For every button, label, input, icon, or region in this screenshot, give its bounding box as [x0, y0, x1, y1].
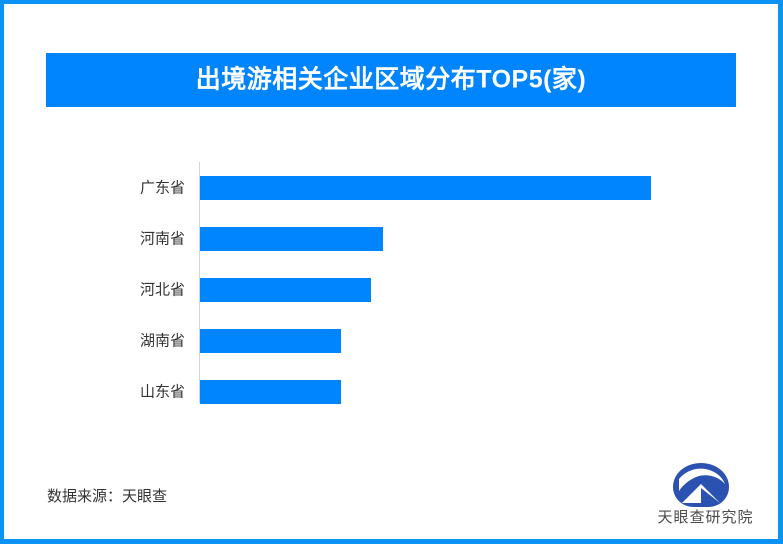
bar-fill[interactable] — [200, 380, 341, 404]
bar-category-label: 广东省 — [60, 181, 185, 196]
bar-track — [200, 329, 700, 353]
infographic-canvas: 出境游相关企业区域分布TOP5(家) 广东省河南省河北省湖南省山东省 数据来源：… — [0, 0, 783, 544]
bar-row: 湖南省 — [0, 329, 783, 353]
bar-category-label: 湖南省 — [60, 334, 185, 349]
page-title: 出境游相关企业区域分布TOP5(家) — [46, 68, 736, 93]
bar-fill[interactable] — [200, 278, 371, 302]
bar-row: 河南省 — [0, 227, 783, 251]
bar-track — [200, 227, 700, 251]
data-source-note: 数据来源：天眼查 — [47, 489, 167, 504]
bar-track — [200, 176, 700, 200]
bar-row: 河北省 — [0, 278, 783, 302]
brand-logo: 天眼查研究院 — [648, 462, 763, 530]
bar-track — [200, 278, 700, 302]
bar-track — [200, 380, 700, 404]
bar-fill[interactable] — [200, 227, 383, 251]
bar-category-label: 河北省 — [60, 283, 185, 298]
brand-name-label: 天眼查研究院 — [648, 510, 763, 525]
bar-category-label: 山东省 — [60, 385, 185, 400]
canvas-border-top — [0, 0, 783, 4]
bar-chart: 广东省河南省河北省湖南省山东省 — [0, 150, 783, 415]
bar-row: 广东省 — [0, 176, 783, 200]
bar-row: 山东省 — [0, 380, 783, 404]
bar-category-label: 河南省 — [60, 232, 185, 247]
tianyancha-eye-logo-icon — [670, 462, 732, 508]
bar-fill[interactable] — [200, 329, 341, 353]
canvas-border-bottom — [0, 539, 783, 544]
bar-fill[interactable] — [200, 176, 651, 200]
title-banner: 出境游相关企业区域分布TOP5(家) — [46, 53, 736, 107]
